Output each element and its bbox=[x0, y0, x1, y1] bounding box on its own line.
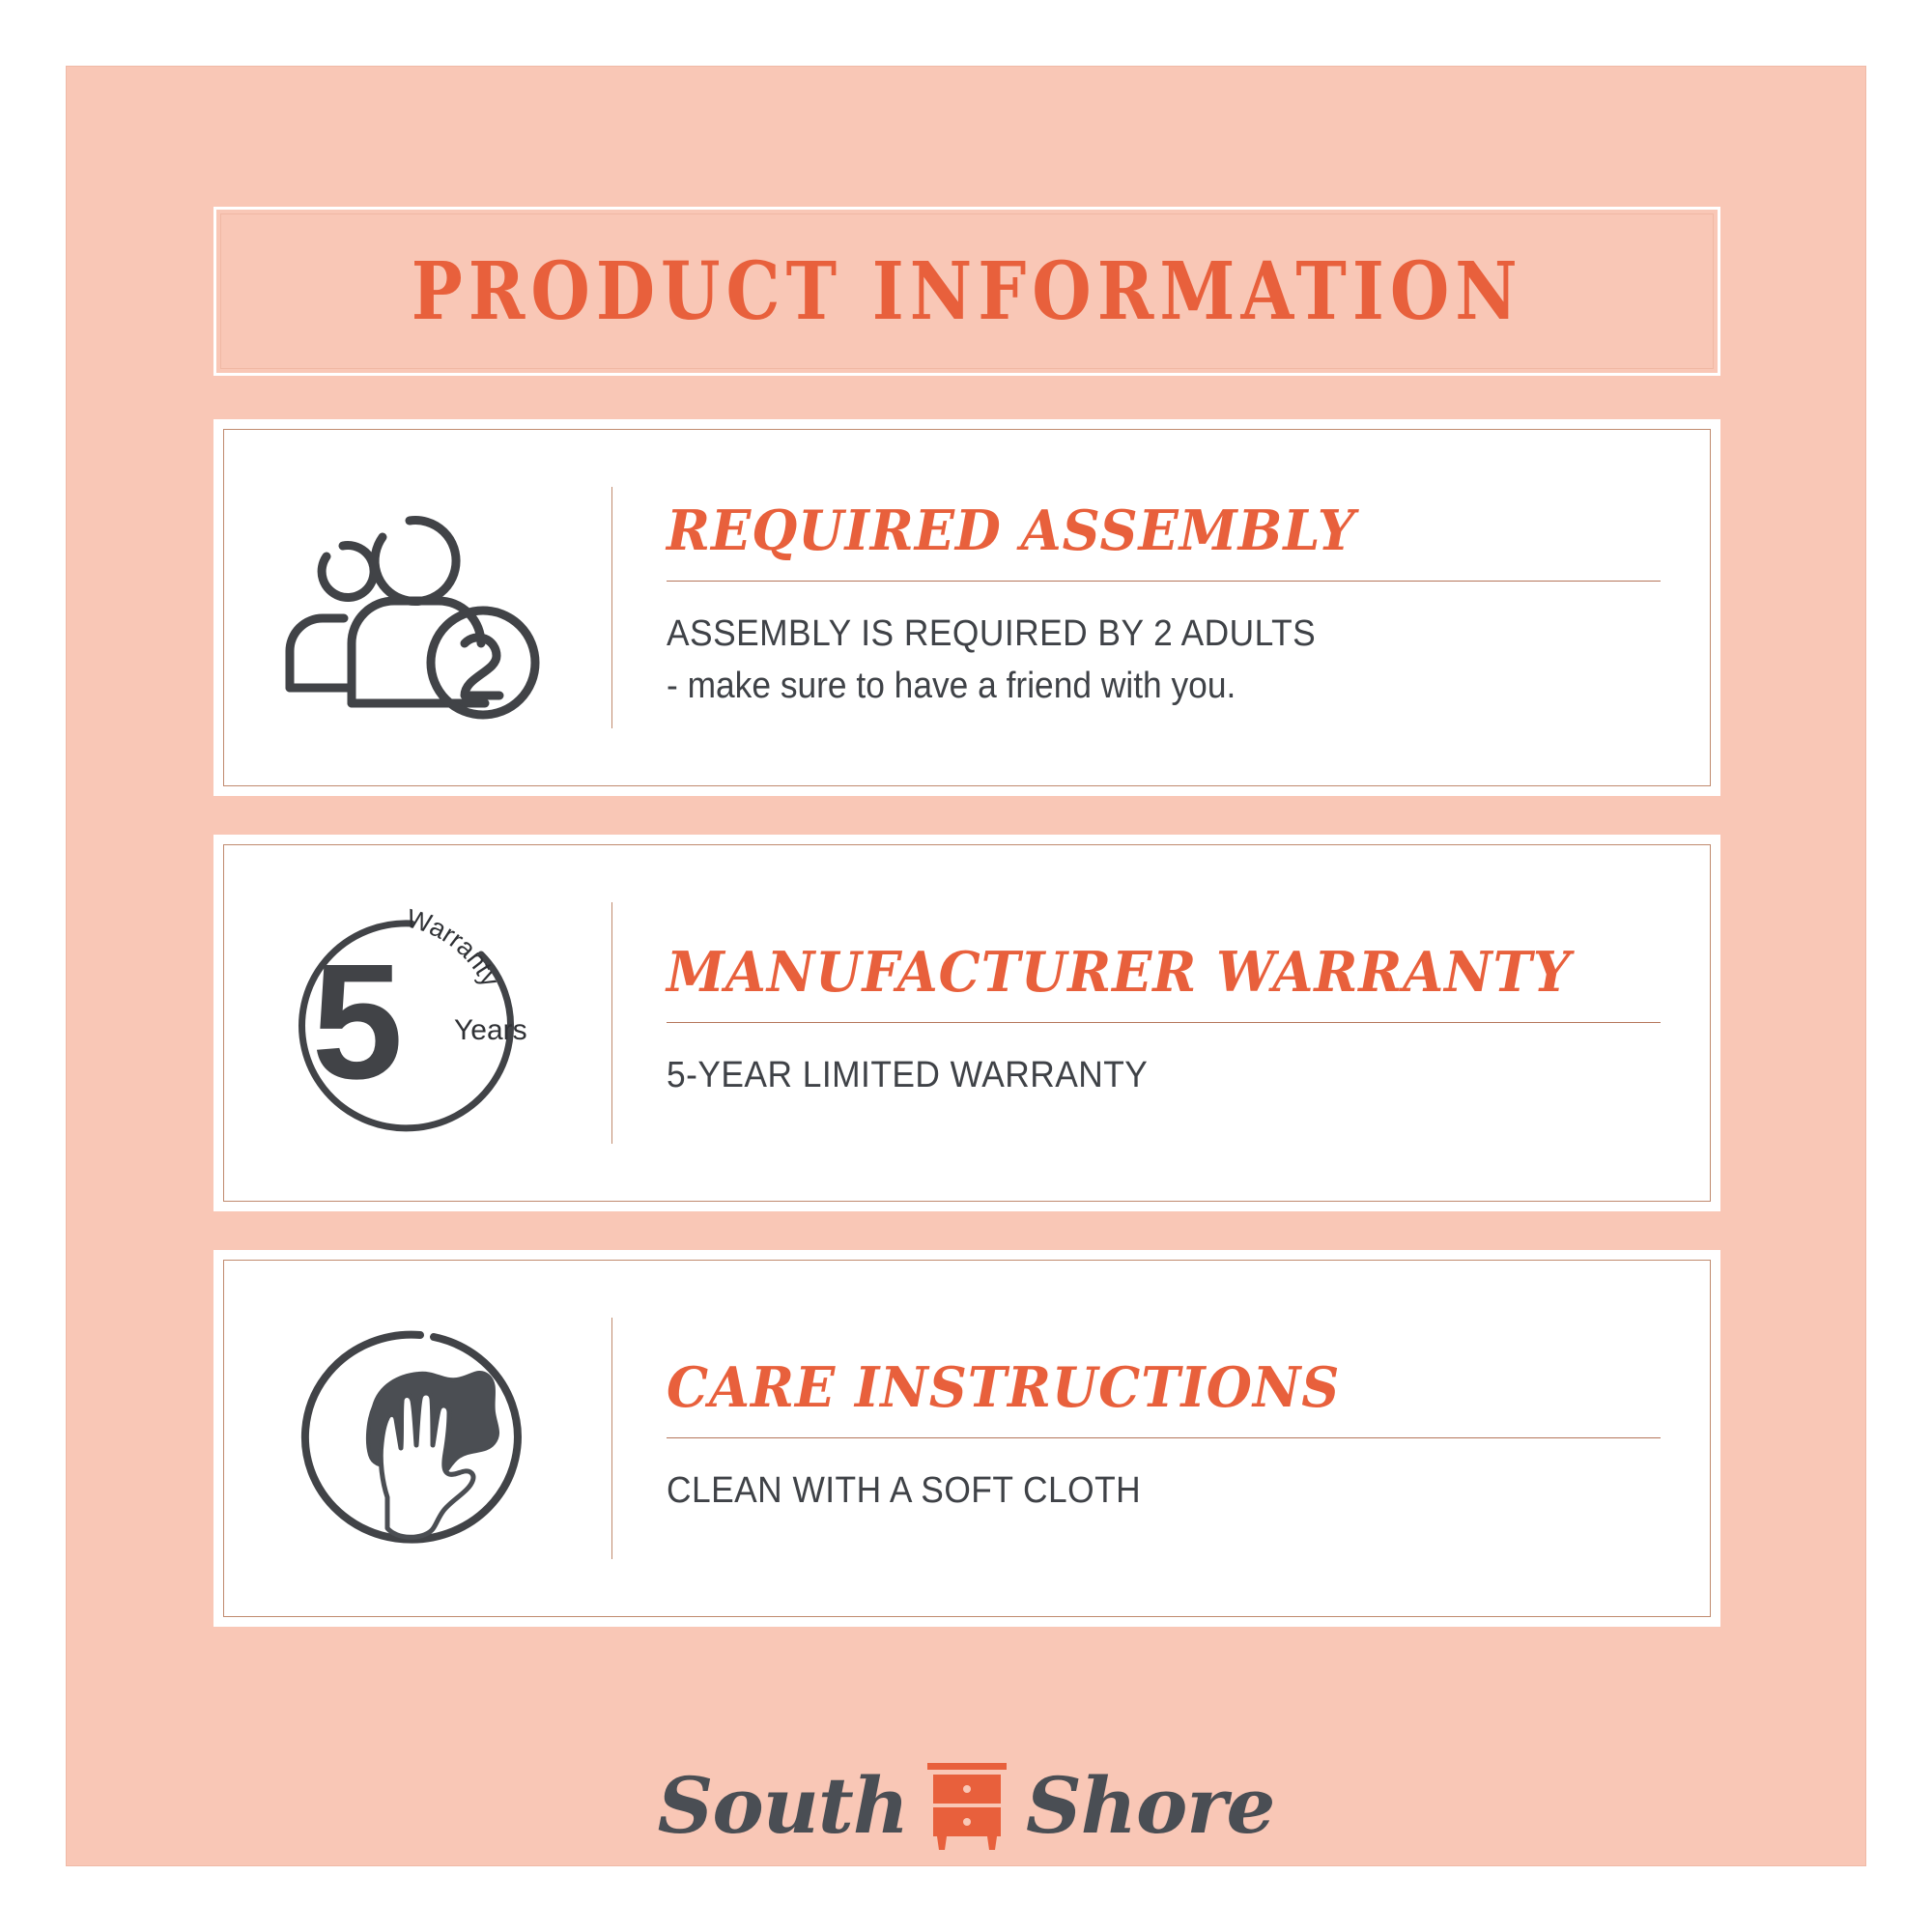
two-people-icon bbox=[269, 497, 558, 719]
icon-cell-assembly bbox=[215, 421, 611, 794]
product-information-panel: PRODUCT INFORMATION bbox=[66, 66, 1866, 1866]
card-body-line-1: CLEAN WITH A SOFT CLOTH bbox=[667, 1465, 1591, 1518]
brand-word-south: South bbox=[658, 1767, 908, 1844]
text-cell-assembly: REQUIRED ASSEMBLY ASSEMBLY IS REQUIRED B… bbox=[612, 502, 1719, 714]
card-body-assembly: ASSEMBLY IS REQUIRED BY 2 ADULTS - make … bbox=[667, 609, 1591, 713]
card-heading-required-assembly: REQUIRED ASSEMBLY bbox=[667, 502, 1611, 560]
card-required-assembly: REQUIRED ASSEMBLY ASSEMBLY IS REQUIRED B… bbox=[213, 419, 1720, 796]
card-heading-rule bbox=[667, 1022, 1661, 1023]
page-title: PRODUCT INFORMATION bbox=[411, 252, 1522, 331]
brand-logo: South Shore bbox=[67, 1723, 1865, 1888]
card-heading-rule bbox=[667, 581, 1661, 582]
nightstand-icon bbox=[925, 1759, 1009, 1852]
icon-cell-warranty: 5 Years Warranty bbox=[215, 837, 611, 1209]
card-heading-care-instructions: CARE INSTRUCTIONS bbox=[667, 1359, 1611, 1417]
card-body-line-2: - make sure to have a friend with you. bbox=[667, 661, 1591, 713]
card-body-warranty: 5-YEAR LIMITED WARRANTY bbox=[667, 1050, 1591, 1102]
page-title-frame: PRODUCT INFORMATION bbox=[213, 207, 1720, 376]
card-body-line-1: ASSEMBLY IS REQUIRED BY 2 ADULTS bbox=[667, 609, 1591, 661]
icon-cell-care bbox=[215, 1252, 611, 1625]
text-cell-care: CARE INSTRUCTIONS CLEAN WITH A SOFT CLOT… bbox=[612, 1359, 1719, 1519]
warranty-number: 5 bbox=[312, 930, 404, 1114]
card-heading-manufacturer-warranty: MANUFACTURER WARRANTY bbox=[667, 944, 1611, 1002]
warranty-years-label: Years bbox=[454, 1014, 527, 1046]
card-manufacturer-warranty: 5 Years Warranty MANUFACTURER WARRANTY 5… bbox=[213, 835, 1720, 1211]
card-care-instructions: CARE INSTRUCTIONS CLEAN WITH A SOFT CLOT… bbox=[213, 1250, 1720, 1627]
five-years-warranty-icon: 5 Years Warranty bbox=[269, 902, 558, 1144]
brand-word-shore: Shore bbox=[1026, 1767, 1274, 1844]
warranty-arc-label: Warranty bbox=[404, 903, 506, 991]
card-heading-rule bbox=[667, 1437, 1661, 1438]
hand-with-cloth-icon bbox=[273, 1318, 554, 1559]
text-cell-warranty: MANUFACTURER WARRANTY 5-YEAR LIMITED WAR… bbox=[612, 944, 1719, 1103]
card-body-line-1: 5-YEAR LIMITED WARRANTY bbox=[667, 1050, 1591, 1102]
card-body-care: CLEAN WITH A SOFT CLOTH bbox=[667, 1465, 1591, 1518]
